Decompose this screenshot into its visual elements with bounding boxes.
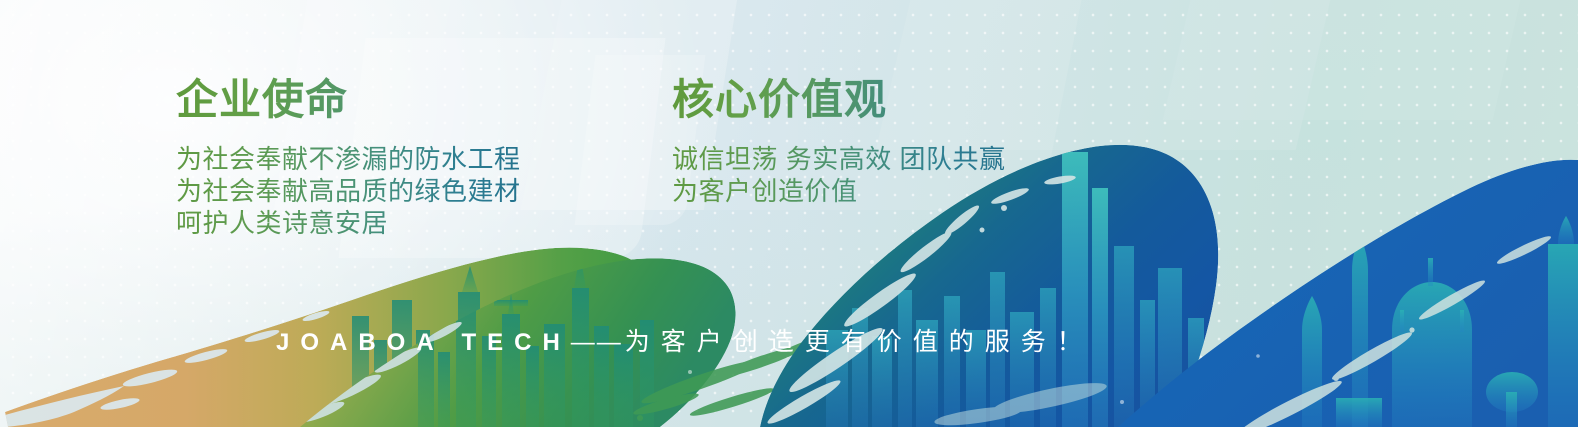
- mission-column: 企业使命 为社会奉献不渗漏的防水工程 为社会奉献高品质的绿色建材 呵护人类诗意安…: [176, 76, 521, 239]
- mission-line-2: 为社会奉献高品质的绿色建材: [176, 175, 521, 207]
- bottom-slogan: JOABOA TECH —— 为客户创造更有价值的服务！: [276, 322, 1093, 358]
- values-line-1: 诚信坦荡 务实高效 团队共赢: [672, 143, 1005, 175]
- values-line-2: 为客户创造价值: [672, 175, 1005, 207]
- brand-name: JOABOA TECH: [276, 329, 571, 357]
- slogan-tagline: 为客户创造更有价值的服务！: [625, 322, 1093, 358]
- values-heading: 核心价值观: [672, 76, 1005, 123]
- mission-line-1: 为社会奉献不渗漏的防水工程: [176, 143, 521, 175]
- slogan-dash: ——: [571, 329, 623, 357]
- mission-values-banner: 企业使命 为社会奉献不渗漏的防水工程 为社会奉献高品质的绿色建材 呵护人类诗意安…: [0, 0, 1578, 427]
- mission-line-3: 呵护人类诗意安居: [176, 207, 521, 239]
- values-column: 核心价值观 诚信坦荡 务实高效 团队共赢 为客户创造价值: [672, 76, 1005, 207]
- mission-heading: 企业使命: [176, 76, 521, 123]
